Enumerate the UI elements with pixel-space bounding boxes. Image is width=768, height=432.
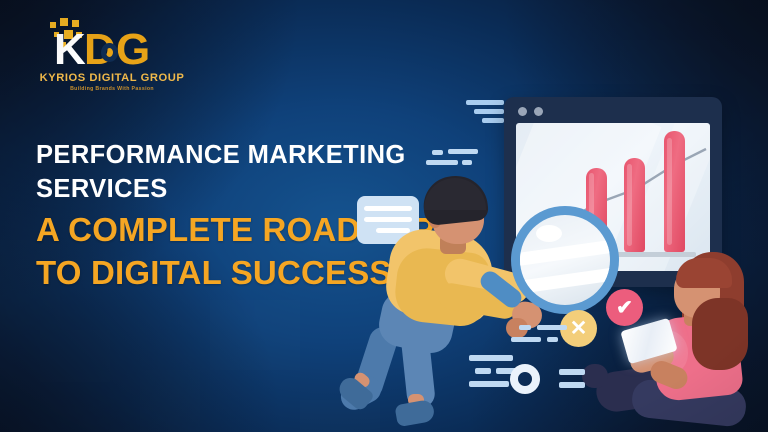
brand-name: KYRIOS DIGITAL GROUP (24, 72, 200, 84)
dash-accent-10 (475, 368, 491, 374)
logo-letter-k: K (54, 28, 84, 72)
brand-tagline: Building Brands With Passion (24, 86, 200, 92)
close-icon: ✕ (570, 316, 588, 341)
lens-stripe-1 (520, 235, 610, 269)
dash-accent-7 (511, 337, 541, 342)
dash-accent-13 (559, 369, 585, 375)
logo-lettermark: K D G (54, 28, 176, 72)
magnifier-lens (520, 215, 610, 305)
bar-highlight (627, 164, 632, 247)
dash-accent-14 (559, 382, 585, 388)
bar-highlight (667, 138, 672, 244)
dash-accent-3 (426, 160, 458, 165)
dash-accent-1 (432, 150, 443, 155)
window-dot-1 (518, 107, 527, 116)
woman-hair-front (676, 258, 732, 288)
logo-letter-g: G (116, 28, 150, 72)
brand-logo[interactable]: K D G KYRIOS DIGITAL GROUP Building Bran… (24, 12, 200, 92)
check-icon: ✔ (616, 295, 633, 320)
dash-accent-9 (469, 355, 513, 361)
ring-accent-icon (510, 364, 540, 394)
dash-accent-5 (519, 325, 531, 330)
logo-inner-ring-icon (101, 43, 118, 62)
lens-glint (536, 225, 562, 242)
dash-accent-4 (462, 160, 472, 165)
dash-accent-12 (469, 381, 509, 387)
stacked-lines-icon (458, 100, 504, 126)
chart-bar-3 (624, 158, 645, 252)
man-shoe-front (394, 399, 435, 427)
dash-accent-2 (448, 149, 478, 154)
woman-with-tablet-illustration (596, 252, 768, 432)
banner-canvas: K D G KYRIOS DIGITAL GROUP Building Bran… (0, 0, 768, 432)
dash-accent-6 (537, 325, 567, 330)
magnifier-icon (511, 206, 619, 314)
window-dot-2 (534, 107, 543, 116)
woman-hair-side (692, 298, 748, 370)
woman-foot (582, 364, 608, 388)
lens-stripe-2 (520, 263, 610, 297)
chart-bar-4 (664, 131, 685, 252)
dash-accent-8 (547, 337, 558, 342)
check-badge: ✔ (606, 289, 643, 326)
